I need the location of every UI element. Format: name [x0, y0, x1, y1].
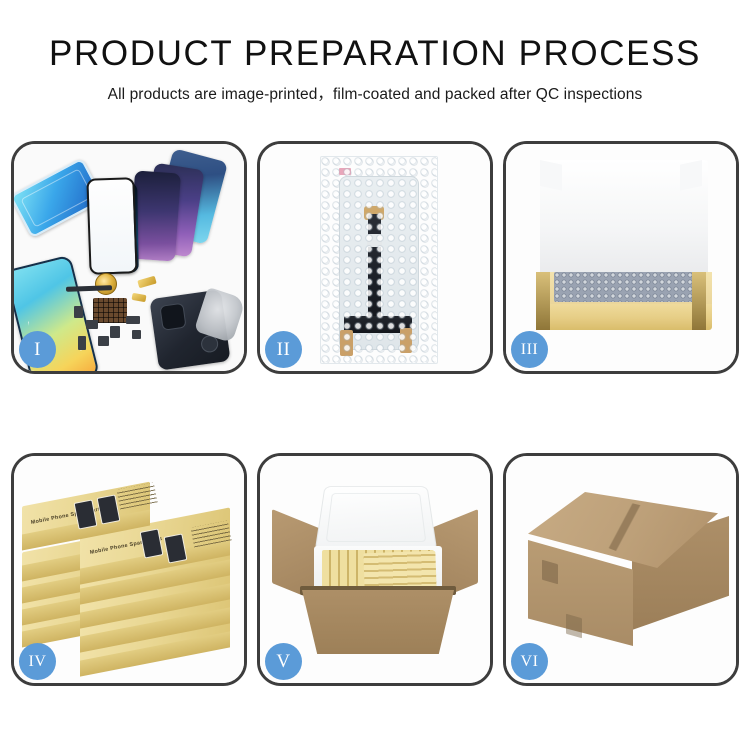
step-badge-3: III: [511, 331, 548, 368]
page-subtitle: All products are image-printed，film-coat…: [0, 85, 750, 105]
small-chip-7: [78, 336, 86, 350]
step-badge-5: V: [265, 643, 302, 680]
small-chip-5: [132, 330, 141, 339]
process-step-panel-6[interactable]: VI: [503, 453, 739, 686]
speaker-coil-part: [95, 273, 117, 295]
page-title: PRODUCT PREPARATION PROCESS: [0, 34, 750, 74]
lcd-flex-cable: [368, 214, 381, 332]
process-step-panel-5[interactable]: V: [257, 453, 493, 686]
inner-box-lid-flap-left: [540, 160, 562, 191]
process-step-panel-4[interactable]: Mobile Phone Spare Parts Mobile Phone Sp…: [11, 453, 247, 686]
lcd-tab-left: [340, 330, 353, 356]
step-badge-4: IV: [19, 643, 56, 680]
inner-box-tray-end-right: [692, 272, 706, 330]
inner-box-lid-flap-right: [680, 160, 702, 191]
bubble-wrapped-contents: [554, 272, 696, 302]
process-step-panel-2[interactable]: II: [257, 141, 493, 374]
page-header: PRODUCT PREPARATION PROCESS All products…: [0, 0, 750, 105]
inner-box-tray-end-left: [536, 272, 550, 330]
shipping-carton-open: [302, 590, 454, 654]
qc-sticker: [339, 168, 351, 175]
lcd-tab-right: [400, 328, 412, 353]
carton-flap-tab-2: [566, 614, 582, 639]
step-badge-6: VI: [511, 643, 548, 680]
lcd-flex-connector: [367, 234, 382, 247]
shield-mesh-part: [93, 298, 127, 323]
process-step-grid: I II III: [0, 141, 750, 686]
step-badge-2: II: [265, 331, 302, 368]
process-step-panel-3[interactable]: III: [503, 141, 739, 374]
small-chip-4: [126, 316, 140, 324]
tempered-glass-panel: [86, 177, 137, 275]
carton-flap-tab-1: [542, 560, 558, 585]
inner-box-tray-front: [536, 304, 712, 330]
small-chip-2: [86, 320, 98, 329]
small-chip-3: [110, 326, 120, 338]
small-chip-6: [98, 336, 109, 346]
process-step-panel-1[interactable]: I: [11, 141, 247, 374]
small-chip-1: [74, 306, 83, 318]
step-badge-1: I: [19, 331, 56, 368]
foam-box-lid: [315, 486, 438, 551]
